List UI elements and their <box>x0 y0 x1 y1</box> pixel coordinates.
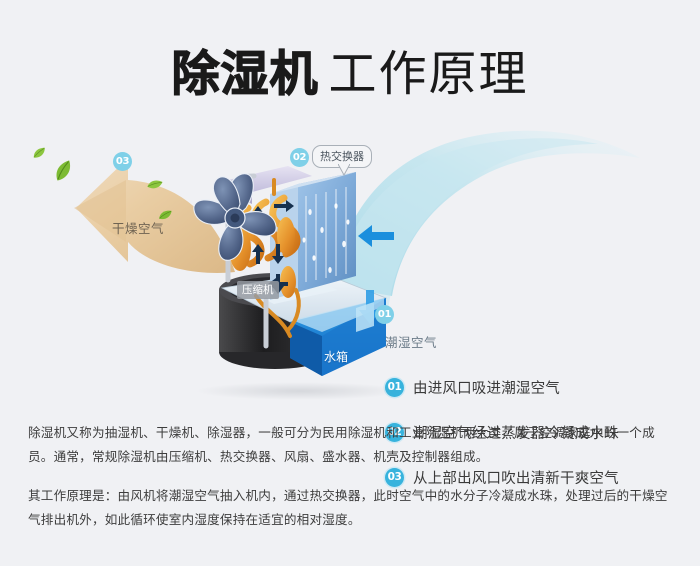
page-title-emphasis: 除湿机 <box>171 46 318 102</box>
step-text: 由进风口吸进潮湿空气 <box>413 377 560 398</box>
page-title-subject: 工作原理 <box>329 46 529 102</box>
machine-ground-shadow <box>195 382 405 400</box>
label-water-tank: 水箱 <box>324 348 348 365</box>
label-dry-air: 干燥空气 <box>112 218 164 237</box>
callout-pointer-icon <box>338 164 350 176</box>
label-compressor: 压缩机 <box>237 281 279 299</box>
list-item: 01 由进风口吸进潮湿空气 <box>385 372 685 402</box>
infographic-page: 除湿机工作原理 <box>0 0 700 566</box>
leaf-icon <box>49 157 77 185</box>
description-paragraph-1: 除湿机又称为抽湿机、干燥机、除湿器，一般可分为民用除湿机和工业除湿机两大类，属于… <box>28 421 678 469</box>
dehumidifier-diagram: 热交换器 03 02 01 干燥空气 潮湿空气 压缩机 水箱 01 由进风口吸进… <box>0 120 700 400</box>
label-humid-air: 潮湿空气 <box>385 332 437 351</box>
page-title: 除湿机工作原理 <box>0 34 700 104</box>
leaf-icon <box>32 146 46 160</box>
diagram-badge-01: 01 <box>375 305 394 324</box>
leaf-icon <box>145 175 165 195</box>
diagram-badge-02: 02 <box>290 148 309 167</box>
description-paragraph-2: 其工作原理是：由风机将潮湿空气抽入机内，通过热交换器，此时空气中的水分子冷凝成水… <box>28 484 678 532</box>
diagram-badge-03: 03 <box>113 152 132 171</box>
fan-icon <box>180 168 290 268</box>
